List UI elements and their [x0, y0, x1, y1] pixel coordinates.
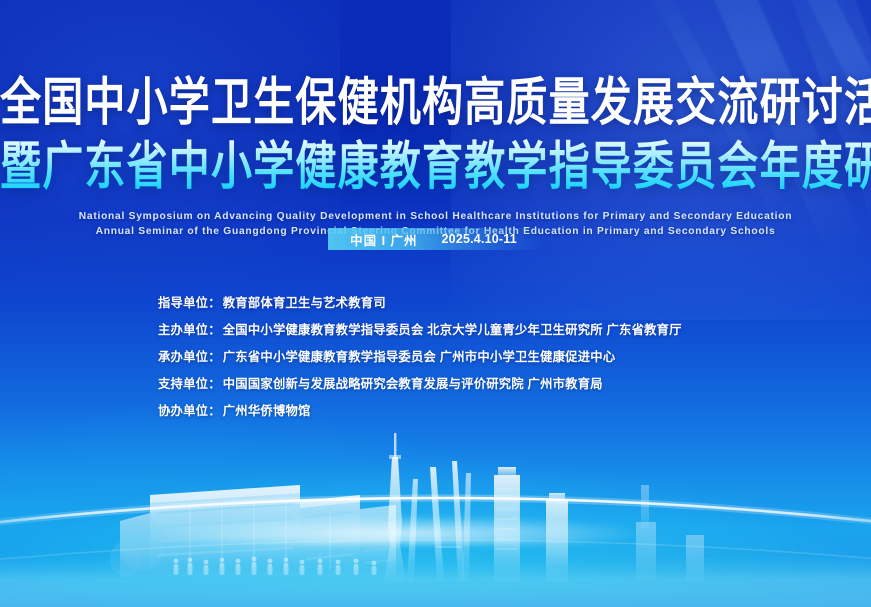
right-tower: [546, 493, 568, 582]
organizer-label: 指导单位：: [158, 293, 221, 311]
organizer-row: 指导单位： 教育部体育卫生与艺术教育司: [158, 288, 682, 315]
organizer-list: 指导单位： 教育部体育卫生与艺术教育司 主办单位： 全国中小学健康教育教学指导委…: [158, 288, 682, 423]
ground-haze: [0, 507, 871, 545]
student-figures: [174, 557, 377, 575]
city-skyline-illustration: [0, 427, 871, 607]
organizer-label: 承办单位：: [158, 347, 221, 365]
organizer-row: 承办单位： 广东省中小学健康教育教学指导委员会 广州市中小学卫生健康促进中心: [158, 342, 682, 369]
organizer-value: 中国国家创新与发展战略研究会教育发展与评价研究院 广州市教育局: [223, 374, 603, 392]
organizer-value: 广州华侨博物馆: [223, 401, 311, 419]
organizer-row: 协办单位： 广州华侨博物馆: [158, 396, 682, 423]
date-label: 2025.4.10-11: [442, 232, 517, 246]
organizer-value: 全国中小学健康教育教学指导委员会 北京大学儿童青少年卫生研究所 广东省教育厅: [223, 320, 682, 338]
organizer-row: 主办单位： 全国中小学健康教育教学指导委员会 北京大学儿童青少年卫生研究所 广东…: [158, 315, 682, 342]
organizer-label: 支持单位：: [158, 374, 221, 392]
page-title-line-2: 暨广东省中小学健康教育教学指导委员会年度研讨活动: [0, 136, 871, 196]
organizer-row: 支持单位： 中国国家创新与发展战略研究会教育发展与评价研究院 广州市教育局: [158, 369, 682, 396]
venue-label: 中国 I 广州: [350, 230, 417, 249]
far-right-towers: [636, 485, 704, 582]
organizer-label: 协办单位：: [158, 401, 221, 419]
venue-date-badge: 中国 I 广州 2025.4.10-11: [328, 228, 543, 250]
conference-poster: 全国中小学卫生保健机构高质量发展交流研讨活动 暨广东省中小学健康教育教学指导委员…: [0, 0, 871, 607]
school-building: [120, 485, 396, 577]
stepped-tower: [494, 467, 520, 582]
headline-block: 全国中小学卫生保健机构高质量发展交流研讨活动 暨广东省中小学健康教育教学指导委员…: [0, 72, 871, 239]
light-arc-secondary: [0, 483, 871, 603]
foliage: [110, 519, 164, 577]
light-arc-primary: [0, 441, 871, 581]
organizer-label: 主办单位：: [158, 320, 221, 338]
organizer-value: 教育部体育卫生与艺术教育司: [223, 293, 386, 311]
subtitle-english-line-1: National Symposium on Advancing Quality …: [7, 210, 865, 225]
organizer-value: 广东省中小学健康教育教学指导委员会 广州市中小学卫生健康促进中心: [223, 347, 616, 365]
page-title-line-1: 全国中小学卫生保健机构高质量发展交流研讨活动: [0, 72, 871, 132]
twin-pylons: [407, 461, 471, 582]
venue-date-badge-wrapper: 中国 I 广州 2025.4.10-11: [0, 228, 871, 250]
canton-tower: [384, 433, 406, 582]
